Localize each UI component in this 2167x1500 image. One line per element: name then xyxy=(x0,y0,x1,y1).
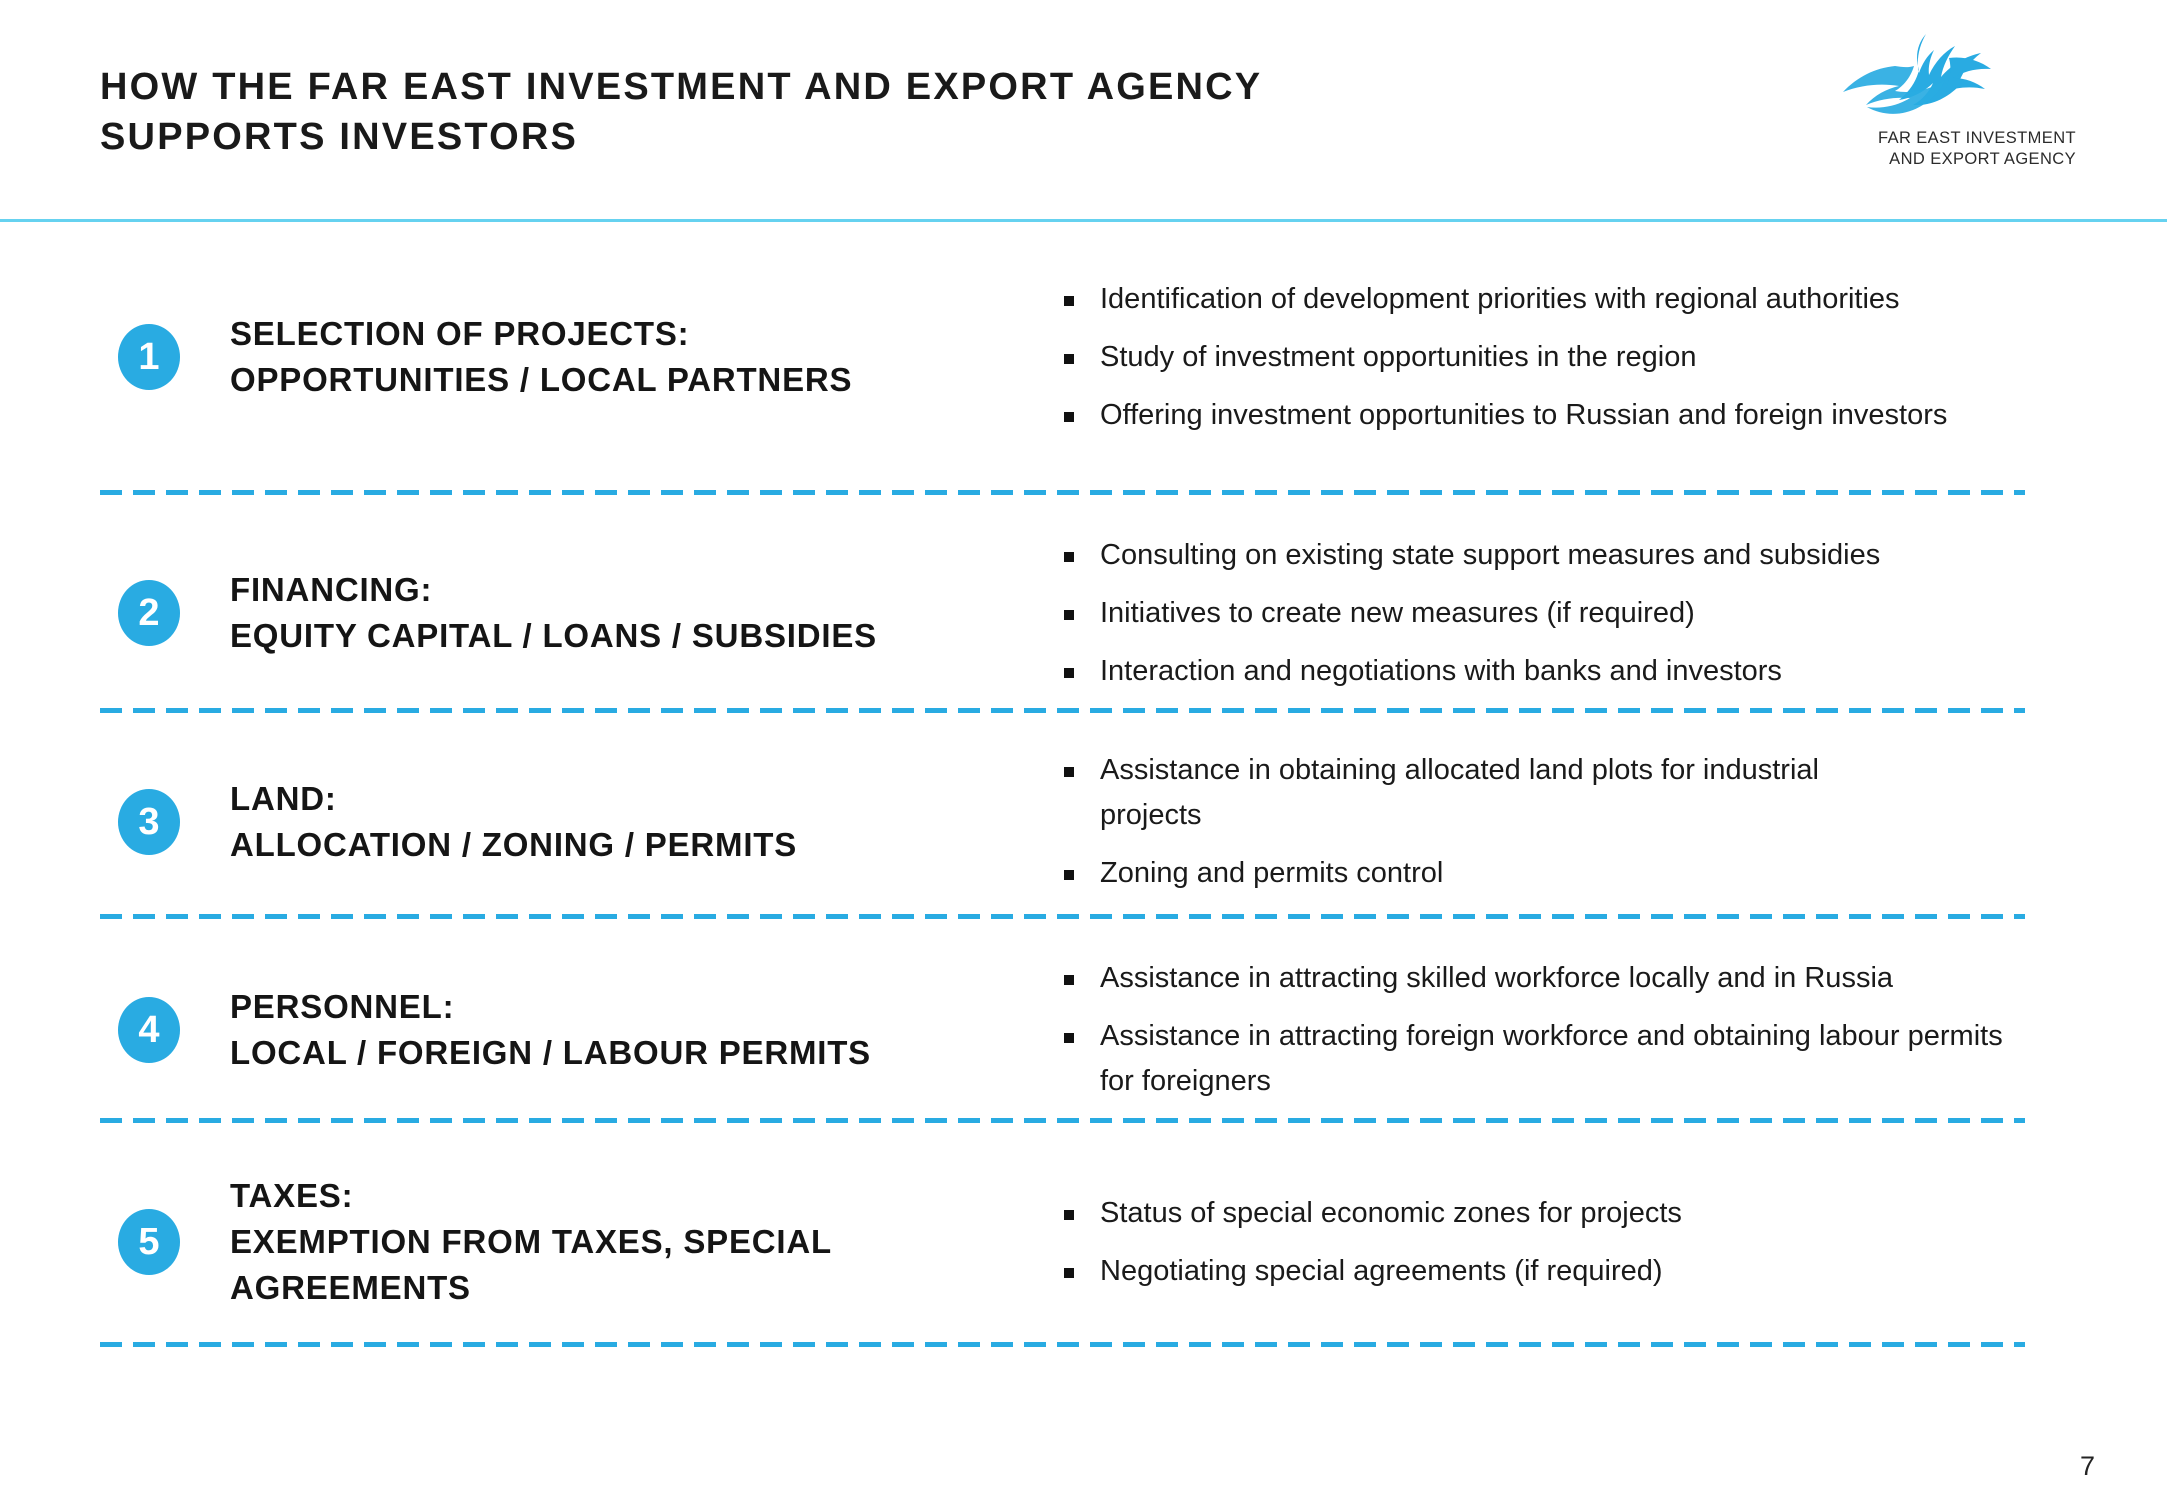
step-heading-line-1: LAND: xyxy=(230,776,797,822)
step-heading-line-1: PERSONNEL: xyxy=(230,984,871,1030)
step-heading-line-1: TAXES: xyxy=(230,1173,930,1219)
step-right-column: Consulting on existing state support mea… xyxy=(1050,533,2050,694)
list-item-text: Status of special economic zones for pro… xyxy=(1100,1197,1682,1229)
support-steps-list: 1 SELECTION OF PROJECTS: OPPORTUNITIES /… xyxy=(0,222,2167,1402)
step-separator xyxy=(100,490,2025,495)
support-step-row: 3 LAND: ALLOCATION / ZONING / PERMITS As… xyxy=(0,734,2167,910)
step-heading: FINANCING: EQUITY CAPITAL / LOANS / SUBS… xyxy=(230,567,877,659)
step-heading-line-2: EQUITY CAPITAL / LOANS / SUBSIDIES xyxy=(230,613,877,659)
step-separator xyxy=(100,708,2025,713)
step-bullet-list: Assistance in obtaining allocated land p… xyxy=(1060,748,2050,896)
list-item-text: Negotiating special agreements (if requi… xyxy=(1100,1255,1663,1287)
step-number-badge: 3 xyxy=(118,789,180,855)
list-item: Study of investment opportunities in the… xyxy=(1060,335,2050,380)
step-left-column: 2 FINANCING: EQUITY CAPITAL / LOANS / SU… xyxy=(0,567,1050,659)
list-item-text: Zoning and permits control xyxy=(1100,857,1443,889)
step-number-badge: 4 xyxy=(118,997,180,1063)
step-number-badge: 2 xyxy=(118,580,180,646)
step-heading: LAND: ALLOCATION / ZONING / PERMITS xyxy=(230,776,797,868)
page-title-line-2: SUPPORTS INVESTORS xyxy=(100,112,1600,162)
list-item: Zoning and permits control xyxy=(1060,851,2050,896)
list-item-text: Assistance in attracting skilled workfor… xyxy=(1100,962,1893,994)
list-item: Consulting on existing state support mea… xyxy=(1060,533,2050,578)
step-right-column: Assistance in attracting skilled workfor… xyxy=(1050,956,2050,1104)
logo-wordmark: FAR EAST INVESTMENT AND EXPORT AGENCY xyxy=(1866,128,2076,170)
step-heading: PERSONNEL: LOCAL / FOREIGN / LABOUR PERM… xyxy=(230,984,871,1076)
agency-logo: FAR EAST INVESTMENT AND EXPORT AGENCY xyxy=(1821,28,2071,168)
list-item: Assistance in attracting skilled workfor… xyxy=(1060,956,2050,1001)
step-bullet-list: Identification of development priorities… xyxy=(1060,277,2050,438)
square-bullet-icon xyxy=(1064,610,1074,620)
step-right-column: Status of special economic zones for pro… xyxy=(1050,1191,2050,1294)
list-item: Initiatives to create new measures (if r… xyxy=(1060,591,2050,636)
logo-wordmark-line-1: FAR EAST INVESTMENT xyxy=(1866,128,2076,149)
square-bullet-icon xyxy=(1064,870,1074,880)
list-item: Interaction and negotiations with banks … xyxy=(1060,649,2050,694)
support-step-row: 4 PERSONNEL: LOCAL / FOREIGN / LABOUR PE… xyxy=(0,942,2167,1118)
step-separator xyxy=(100,1118,2025,1123)
slide-header: HOW THE FAR EAST INVESTMENT AND EXPORT A… xyxy=(0,0,2167,222)
step-heading: TAXES: EXEMPTION FROM TAXES, SPECIAL AGR… xyxy=(230,1173,930,1311)
step-separator xyxy=(100,914,2025,919)
step-heading-line-2: ALLOCATION / ZONING / PERMITS xyxy=(230,822,797,868)
step-right-column: Identification of development priorities… xyxy=(1050,277,2050,438)
logo-wordmark-line-2: AND EXPORT AGENCY xyxy=(1866,149,2076,170)
lotus-leaf-icon xyxy=(1831,28,2021,124)
square-bullet-icon xyxy=(1064,296,1074,306)
list-item-text: Assistance in obtaining allocated land p… xyxy=(1100,754,1819,831)
list-item: Assistance in obtaining allocated land p… xyxy=(1060,748,1920,838)
step-heading: SELECTION OF PROJECTS: OPPORTUNITIES / L… xyxy=(230,311,852,403)
list-item-text: Study of investment opportunities in the… xyxy=(1100,341,1696,373)
square-bullet-icon xyxy=(1064,1210,1074,1220)
support-step-row: 5 TAXES: EXEMPTION FROM TAXES, SPECIAL A… xyxy=(0,1144,2167,1340)
support-step-row: 2 FINANCING: EQUITY CAPITAL / LOANS / SU… xyxy=(0,518,2167,708)
square-bullet-icon xyxy=(1064,668,1074,678)
page-title: HOW THE FAR EAST INVESTMENT AND EXPORT A… xyxy=(100,62,1600,162)
square-bullet-icon xyxy=(1064,1268,1074,1278)
step-number-badge: 1 xyxy=(118,324,180,390)
list-item-text: Identification of development priorities… xyxy=(1100,283,1900,315)
step-left-column: 4 PERSONNEL: LOCAL / FOREIGN / LABOUR PE… xyxy=(0,984,1050,1076)
page-number: 7 xyxy=(2080,1451,2095,1482)
square-bullet-icon xyxy=(1064,975,1074,985)
step-bullet-list: Consulting on existing state support mea… xyxy=(1060,533,2050,694)
list-item: Assistance in attracting foreign workfor… xyxy=(1060,1014,2005,1104)
step-right-column: Assistance in obtaining allocated land p… xyxy=(1050,748,2050,896)
list-item: Identification of development priorities… xyxy=(1060,277,2050,322)
step-bullet-list: Status of special economic zones for pro… xyxy=(1060,1191,2050,1294)
square-bullet-icon xyxy=(1064,354,1074,364)
list-item: Negotiating special agreements (if requi… xyxy=(1060,1249,2050,1294)
list-item-text: Consulting on existing state support mea… xyxy=(1100,539,1880,571)
list-item-text: Interaction and negotiations with banks … xyxy=(1100,655,1782,687)
square-bullet-icon xyxy=(1064,1033,1074,1043)
step-left-column: 5 TAXES: EXEMPTION FROM TAXES, SPECIAL A… xyxy=(0,1173,1050,1311)
list-item: Offering investment opportunities to Rus… xyxy=(1060,393,2050,438)
square-bullet-icon xyxy=(1064,767,1074,777)
step-number-badge: 5 xyxy=(118,1209,180,1275)
step-heading-line-2: LOCAL / FOREIGN / LABOUR PERMITS xyxy=(230,1030,871,1076)
list-item-text: Assistance in attracting foreign workfor… xyxy=(1100,1020,2003,1097)
step-separator xyxy=(100,1342,2025,1347)
step-heading-line-2: OPPORTUNITIES / LOCAL PARTNERS xyxy=(230,357,852,403)
support-step-row: 1 SELECTION OF PROJECTS: OPPORTUNITIES /… xyxy=(0,242,2167,472)
step-left-column: 1 SELECTION OF PROJECTS: OPPORTUNITIES /… xyxy=(0,311,1050,403)
page-title-line-1: HOW THE FAR EAST INVESTMENT AND EXPORT A… xyxy=(100,66,1262,108)
list-item: Status of special economic zones for pro… xyxy=(1060,1191,2050,1236)
step-left-column: 3 LAND: ALLOCATION / ZONING / PERMITS xyxy=(0,776,1050,868)
list-item-text: Offering investment opportunities to Rus… xyxy=(1100,399,1947,431)
step-heading-line-2: EXEMPTION FROM TAXES, SPECIAL AGREEMENTS xyxy=(230,1219,930,1311)
step-bullet-list: Assistance in attracting skilled workfor… xyxy=(1060,956,2050,1104)
step-heading-line-1: FINANCING: xyxy=(230,567,877,613)
square-bullet-icon xyxy=(1064,412,1074,422)
step-heading-line-1: SELECTION OF PROJECTS: xyxy=(230,311,852,357)
list-item-text: Initiatives to create new measures (if r… xyxy=(1100,597,1695,629)
square-bullet-icon xyxy=(1064,552,1074,562)
